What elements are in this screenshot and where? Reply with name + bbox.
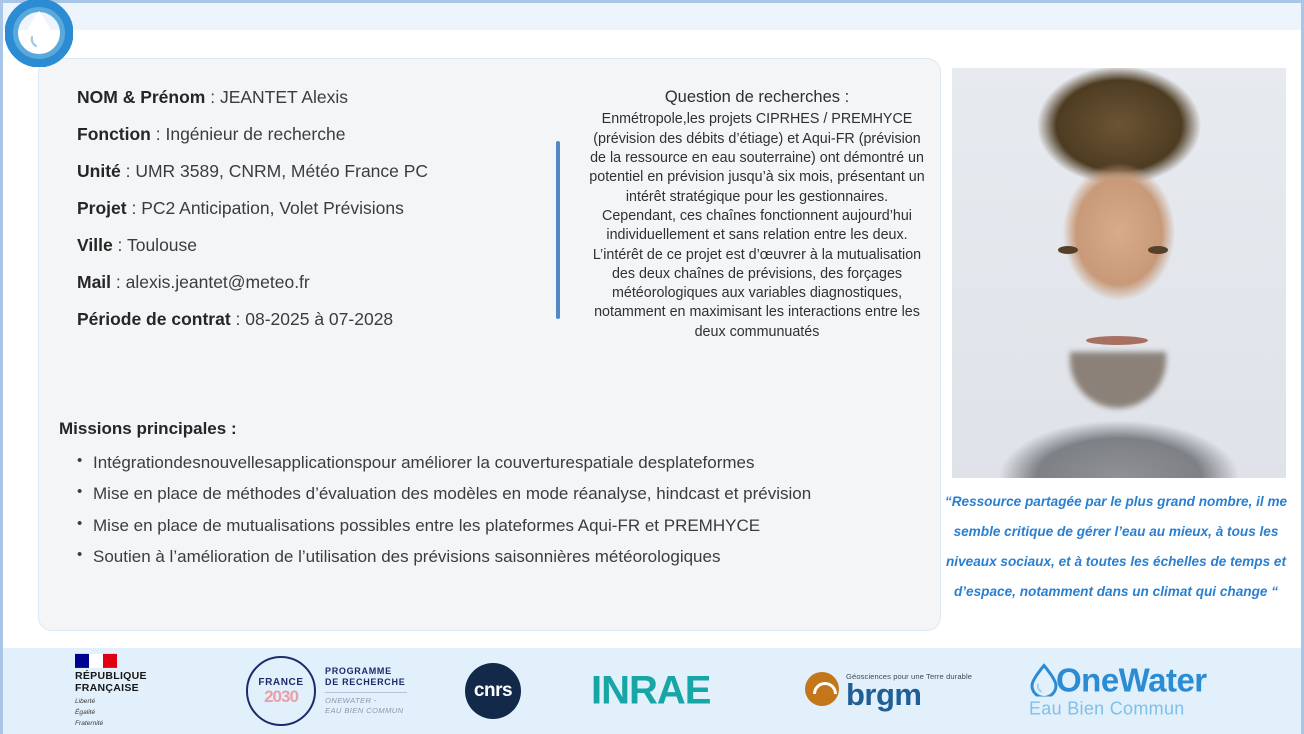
identity-row-fonction: Fonction : Ingénieur de recherche <box>77 126 527 144</box>
cnrs-label: cnrs <box>465 663 521 719</box>
identity-row-mail: Mail : alexis.jeantet@meteo.fr <box>77 274 527 292</box>
programme-line1: PROGRAMME <box>325 666 407 678</box>
identity-key: Unité <box>77 161 121 181</box>
rf-name-line2: FRANÇAISE <box>75 683 147 695</box>
brgm-sun-icon <box>805 672 839 706</box>
list-item: Mise en place de mutualisations possible… <box>59 513 929 539</box>
rf-motto-egalite: Égalité <box>75 709 147 717</box>
onewater-drop-icon <box>1029 663 1059 697</box>
top-accent-band <box>3 3 1301 30</box>
identity-value: alexis.jeantet@meteo.fr <box>126 272 310 292</box>
onewater-logo: OneWater Eau Bien Commun <box>1029 663 1207 720</box>
personal-quote: “Ressource partagée par le plus grand no… <box>933 487 1299 607</box>
research-question-body: Enmétropole,les projets CIPRHES / PREMHY… <box>587 110 927 342</box>
portrait-detail <box>1086 336 1148 345</box>
identity-value: Ingénieur de recherche <box>165 124 345 144</box>
portrait-detail <box>1058 246 1078 254</box>
missions-list: Intégrationdesnouvellesapplicationspour … <box>59 450 929 570</box>
list-item: Intégrationdesnouvellesapplicationspour … <box>59 450 929 476</box>
identity-key: Fonction <box>77 124 151 144</box>
missions-block: Missions principales : Intégrationdesnou… <box>59 419 929 575</box>
portrait-detail <box>1148 246 1168 254</box>
research-question-title: Question de recherches : <box>587 87 927 108</box>
french-flag-icon <box>75 654 117 668</box>
identity-row-nom: NOM & Prénom : JEANTET Alexis <box>77 89 527 107</box>
inrae-logo: INRAE <box>591 669 710 714</box>
missions-title: Missions principales : <box>59 419 929 439</box>
programme-recherche-text: PROGRAMME DE RECHERCHE ONEWATER - EAU BI… <box>325 666 407 717</box>
republique-francaise-logo: RÉPUBLIQUE FRANÇAISE Liberté Égalité Fra… <box>75 654 147 728</box>
list-item: Mise en place de méthodes d’évaluation d… <box>59 481 929 507</box>
identity-row-projet: Projet : PC2 Anticipation, Volet Prévisi… <box>77 200 527 218</box>
brgm-label: brgm <box>846 681 972 710</box>
water-drop-logo-icon <box>5 0 73 67</box>
list-item: Soutien à l’amélioration de l’utilisatio… <box>59 544 929 570</box>
rf-name-line1: RÉPUBLIQUE <box>75 671 147 683</box>
identity-key: Mail <box>77 272 111 292</box>
identity-value: UMR 3589, CNRM, Météo France PC <box>135 161 428 181</box>
identity-row-periode: Période de contrat : 08-2025 à 07-2028 <box>77 311 527 329</box>
identity-sep: : <box>127 198 142 218</box>
onewater-name: OneWater <box>1056 663 1207 696</box>
identity-sep: : <box>151 124 166 144</box>
research-question-block: Question de recherches : Enmétropole,les… <box>587 87 927 342</box>
cnrs-logo: cnrs <box>465 663 521 719</box>
rf-motto-liberte: Liberté <box>75 697 147 705</box>
identity-value: 08-2025 à 07-2028 <box>245 309 393 329</box>
identity-sep: : <box>121 161 136 181</box>
portrait-detail <box>1070 352 1166 408</box>
identity-row-unite: Unité : UMR 3589, CNRM, Météo France PC <box>77 163 527 181</box>
identity-key: Projet <box>77 198 127 218</box>
programme-sub-line1: ONEWATER - <box>325 696 407 706</box>
identity-value: JEANTET Alexis <box>220 87 348 107</box>
divider-rule <box>325 692 407 693</box>
poster-page: NOM & Prénom : JEANTET Alexis Fonction :… <box>0 0 1304 734</box>
programme-sub-line2: EAU BIEN COMMUN <box>325 706 407 716</box>
rf-motto-fraternite: Fraternité <box>75 720 147 728</box>
france-2030-logo: FRANCE 2030 PROGRAMME DE RECHERCHE ONEWA… <box>246 656 407 726</box>
identity-sep: : <box>205 87 220 107</box>
brgm-logo: Géosciences pour une Terre durable brgm <box>805 672 972 710</box>
profile-card: NOM & Prénom : JEANTET Alexis Fonction :… <box>38 58 941 631</box>
identity-sep: : <box>113 235 127 255</box>
brgm-text: Géosciences pour une Terre durable brgm <box>846 672 972 710</box>
onewater-wordmark: OneWater <box>1029 663 1207 697</box>
identity-sep: : <box>231 309 246 329</box>
identity-block: NOM & Prénom : JEANTET Alexis Fonction :… <box>77 89 527 348</box>
identity-value: PC2 Anticipation, Volet Prévisions <box>141 198 404 218</box>
france-2030-number: 2030 <box>264 688 298 705</box>
vertical-divider <box>556 141 560 319</box>
france-2030-ring-icon: FRANCE 2030 <box>246 656 316 726</box>
identity-value: Toulouse <box>127 235 197 255</box>
identity-key: Ville <box>77 235 113 255</box>
footer-logo-band: RÉPUBLIQUE FRANÇAISE Liberté Égalité Fra… <box>3 648 1301 734</box>
identity-sep: : <box>111 272 126 292</box>
onewater-subtitle: Eau Bien Commun <box>1029 699 1207 720</box>
identity-row-ville: Ville : Toulouse <box>77 237 527 255</box>
identity-key: Période de contrat <box>77 309 231 329</box>
programme-line2: DE RECHERCHE <box>325 677 407 689</box>
portrait-photo <box>952 68 1286 478</box>
identity-key: NOM & Prénom <box>77 87 205 107</box>
